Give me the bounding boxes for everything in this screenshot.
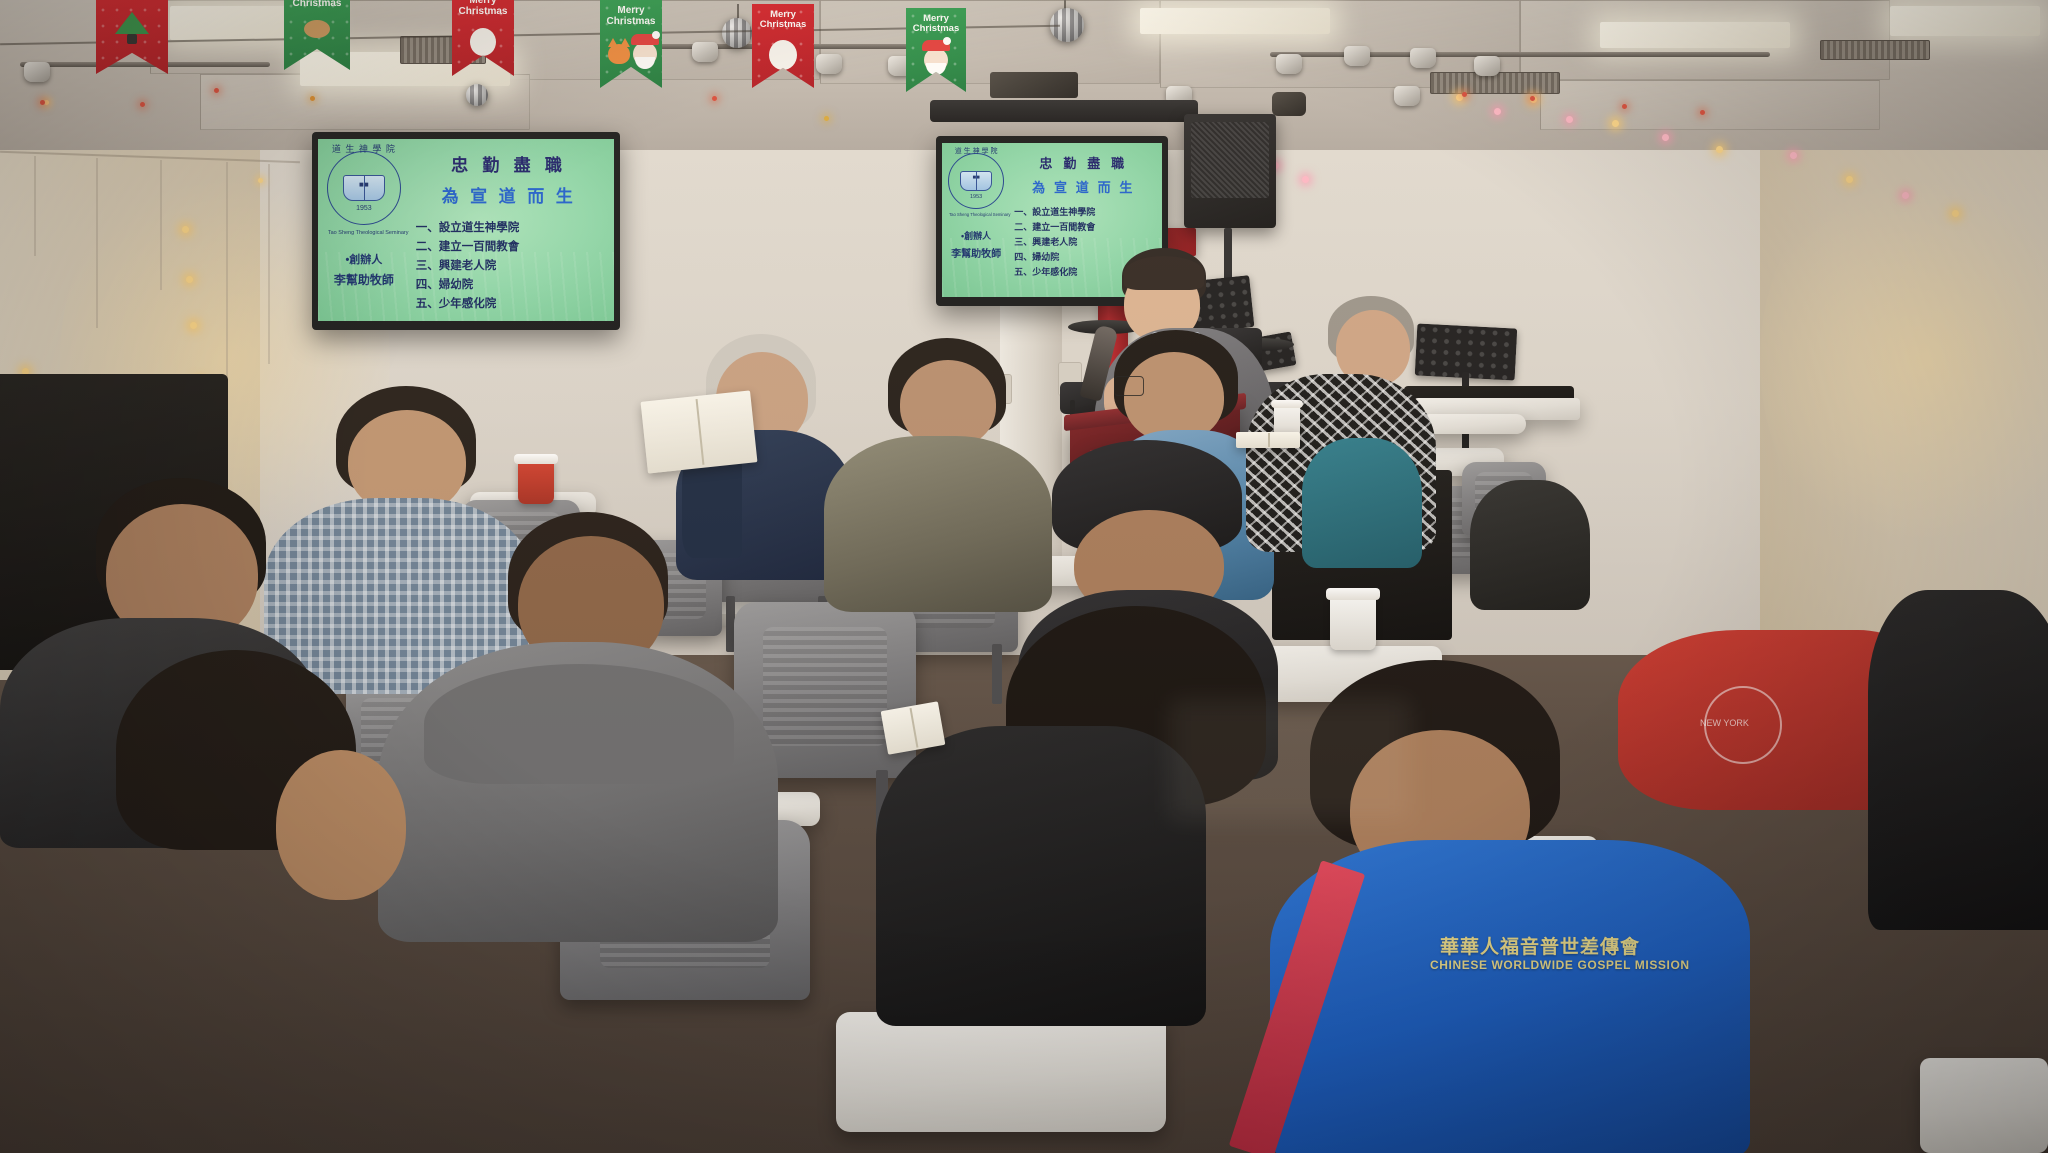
- seal-glyphs: ■■: [961, 175, 991, 181]
- black-leather-jacket: [876, 726, 1206, 1026]
- fairy-bulb: [182, 226, 189, 233]
- slide-list-item: 三、興建老人院: [1014, 235, 1157, 248]
- ceiling-vent-far: [1820, 40, 1930, 60]
- ornament-ball: [712, 96, 717, 101]
- spotlight: [1474, 56, 1500, 76]
- speaker-pendant: [1272, 92, 1306, 116]
- audience-person-bottom-left: [96, 650, 396, 980]
- spotlight: [692, 42, 718, 62]
- icicle-strand: [268, 164, 270, 364]
- slide-title-line2: 為 宣 道 而 生: [410, 182, 608, 207]
- ceiling-tile: [820, 0, 1160, 84]
- slide-list-item: 二、建立一百間教會: [416, 238, 608, 254]
- cup-lid: [514, 454, 558, 464]
- papers-on-table: [1236, 432, 1300, 448]
- seal-arc-bottom: Tao Sheng Theological Seminary: [949, 212, 1003, 217]
- ceiling-soundbar: [930, 100, 1198, 122]
- ornament-ball: [310, 96, 315, 101]
- presenter-hair-top: [1124, 256, 1204, 290]
- slide-list-item: 五、少年感化院: [416, 295, 608, 311]
- ceiling-light-panel: [1600, 22, 1790, 48]
- founder-name: 李幫助牧師: [951, 245, 1001, 260]
- cup-lid: [1271, 400, 1303, 408]
- slide-list-item: 一、設立道生神學院: [416, 219, 608, 235]
- ornament-ball: [214, 88, 219, 93]
- founder-label: •創辦人: [961, 229, 991, 242]
- jacket-chinese-text: 華華人福音普世差傳會: [1440, 932, 1640, 959]
- seminary-seal-icon: 道 生 神 學 院 ■■ 1953 Tao Sheng Theological …: [327, 151, 401, 225]
- audience-grey-hoodie-man: [378, 512, 778, 932]
- slide-list-item: 一、設立道生神學院: [1014, 205, 1157, 218]
- ornament-ball: [1530, 96, 1535, 101]
- slide-left-column: 道 生 神 學 院 ■■ 1953 Tao Sheng Theological …: [318, 139, 410, 321]
- spotlight: [1344, 46, 1370, 66]
- fairy-bulb: [1302, 176, 1309, 183]
- fairy-bulb: [1494, 108, 1501, 115]
- seal-glyphs: ■■: [344, 180, 384, 189]
- slide-list-item: 二、建立一百間教會: [1014, 220, 1157, 233]
- table-front-center: [836, 1012, 1166, 1132]
- slide-list-item: 四、婦幼院: [416, 276, 608, 292]
- fairy-bulb: [1566, 116, 1573, 123]
- slide-right-column: 忠 勤 盡 職 為 宣 道 而 生 一、設立道生神學院 二、建立一百間教會 三、…: [410, 139, 614, 321]
- ornament-ball: [40, 100, 45, 105]
- seal-arc-bottom: Tao Sheng Theological Seminary: [328, 230, 400, 236]
- founder-name: 李幫助牧師: [334, 271, 394, 288]
- head: [1124, 352, 1224, 442]
- santa-icon: [633, 42, 657, 66]
- spotlight: [816, 54, 842, 74]
- projector-housing: [990, 72, 1078, 98]
- cup-lid: [1326, 588, 1380, 600]
- christmas-tree-icon: [115, 12, 149, 44]
- jacket-english-text: CHINESE WORLDWIDE GOSPEL MISSION: [1430, 958, 1690, 972]
- fairy-bulb: [1952, 210, 1959, 217]
- slide-list: 一、設立道生神學院 二、建立一百間教會 三、興建老人院 四、婦幼院 五、少年感化…: [410, 219, 608, 311]
- ornament-ball: [1462, 92, 1467, 97]
- seminary-seal-icon: 道 生 神 學 院 ■■ 1953 Tao Sheng Theological …: [948, 153, 1004, 209]
- wall-loudspeaker: [1184, 114, 1276, 228]
- red-cup: [518, 460, 554, 504]
- table-right-corner: [1920, 1058, 2048, 1153]
- slide-list-item: 三、興建老人院: [416, 257, 608, 273]
- coffee-cup: [1330, 594, 1376, 650]
- shirt-logo-text: NEW YORK: [1700, 718, 1749, 728]
- snowman-icon: [769, 40, 797, 70]
- icicle-strand: [34, 156, 36, 256]
- speaker-grille: [1191, 122, 1269, 198]
- ornament-ball: [1700, 110, 1705, 115]
- slide-title-line1: 忠 勤 盡 職: [1010, 153, 1157, 172]
- fairy-bulb: [1846, 176, 1853, 183]
- fairy-bulb: [1790, 152, 1797, 159]
- open-book-icon: ■■: [343, 175, 385, 201]
- spotlight: [1276, 54, 1302, 74]
- slide-left: 道 生 神 學 院 ■■ 1953 Tao Sheng Theological …: [318, 139, 614, 321]
- slide-title-line1: 忠 勤 盡 職: [410, 151, 608, 176]
- reindeer-icon: [304, 20, 330, 38]
- seal-year: 1953: [949, 194, 1003, 200]
- seal-year: 1953: [328, 205, 400, 212]
- display-screen-left: 道 生 神 學 院 ■■ 1953 Tao Sheng Theological …: [312, 132, 620, 330]
- spotlight: [1394, 86, 1420, 106]
- disco-ball: [722, 18, 752, 48]
- fairy-bulb: [190, 322, 197, 329]
- head: [900, 360, 996, 448]
- audience-red-shirt-person: NEW YORK: [1618, 590, 2048, 930]
- spotlight: [24, 62, 50, 82]
- dark-jacket-right: [1868, 590, 2048, 930]
- hoodie-hood: [424, 664, 734, 784]
- dark-top: [1470, 480, 1590, 610]
- ceiling-light-panel: [1890, 6, 2040, 36]
- disco-ball: [466, 84, 488, 106]
- seal-arc-top: 道 生 神 學 院: [328, 142, 400, 155]
- seal-arc-top: 道 生 神 學 院: [949, 146, 1003, 156]
- fairy-bulb: [258, 178, 263, 183]
- audience-teal-shirt-person: [1302, 438, 1422, 568]
- audience-person-far-right: [1470, 480, 1590, 610]
- fairy-bulb: [1612, 120, 1619, 127]
- floor-highlight: [1170, 700, 1410, 820]
- slide-title-line2: 為 宣 道 而 生: [1010, 177, 1157, 196]
- fox-icon: [608, 44, 630, 64]
- ornament-ball: [824, 116, 829, 121]
- ceiling-tile: [1540, 80, 1880, 130]
- glasses-icon: [1114, 376, 1144, 396]
- founder-label: •創辦人: [345, 251, 382, 267]
- santa-icon: [924, 48, 948, 72]
- ornament-ball: [140, 102, 145, 107]
- icicle-strand: [96, 158, 98, 328]
- ceiling-light-panel: [1140, 8, 1330, 34]
- open-book-icon: ■■: [960, 171, 992, 191]
- teal-shirt: [1302, 438, 1422, 568]
- lighting-track-left: [20, 62, 270, 67]
- head: [276, 750, 406, 900]
- fairy-bulb: [1662, 134, 1669, 141]
- icicle-strand: [160, 160, 162, 290]
- spotlight: [1410, 48, 1436, 68]
- slide-right-left-column: 道 生 神 學 院 ■■ 1953 Tao Sheng Theological …: [942, 143, 1010, 297]
- room-scene-photo: Christmas Merry Christmas Merry Christma…: [0, 0, 2048, 1153]
- ornament-ball: [1622, 104, 1627, 109]
- open-bible: [641, 390, 758, 473]
- fairy-bulb: [1716, 146, 1723, 153]
- snowman-icon: [470, 28, 496, 56]
- fairy-bulb: [1902, 192, 1909, 199]
- fairy-bulb: [186, 276, 193, 283]
